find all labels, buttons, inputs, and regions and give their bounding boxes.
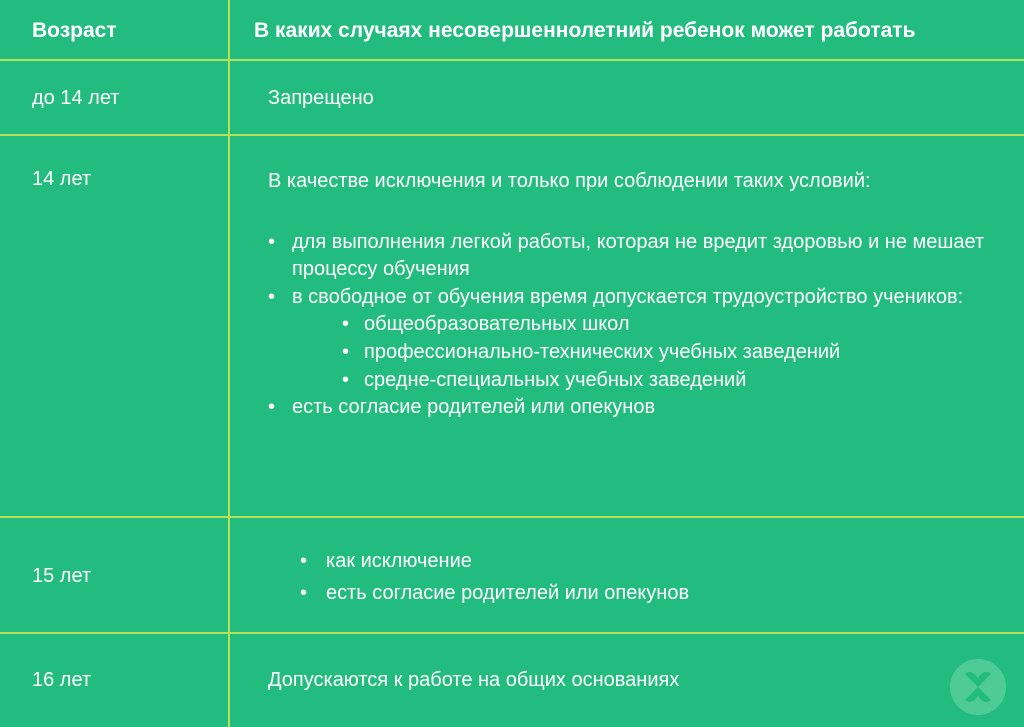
row-body-text: Запрещено — [268, 87, 374, 109]
header-cell-age: Возраст — [0, 0, 228, 61]
bullet-dot-icon: • — [268, 229, 275, 257]
list-item-text: профессионально-технических учебных заве… — [364, 341, 840, 363]
list-item: • в свободное от обучения время допускае… — [268, 284, 992, 394]
list-item: • для выполнения легкой работы, которая … — [268, 229, 992, 284]
list-item: • средне-специальных учебных заведений — [342, 367, 992, 395]
list-item-text: средне-специальных учебных заведений — [364, 369, 746, 391]
age-label: до 14 лет — [32, 87, 119, 109]
table-row: 14 лет В качестве исключения и только пр… — [0, 136, 1024, 518]
list-item: • профессионально-технических учебных за… — [342, 339, 992, 367]
age-work-rules-table: Возраст В каких случаях несовершеннолетн… — [0, 0, 1024, 727]
row-cell-age: 16 лет — [0, 634, 228, 727]
bullet-dot-icon: • — [300, 546, 307, 578]
row-cell-age: 14 лет — [0, 136, 228, 189]
conditions-bullet-list: • как исключение • есть согласие родител… — [300, 518, 1008, 609]
list-item: • как исключение — [300, 546, 1008, 578]
list-item: • есть согласие родителей или опекунов — [268, 394, 992, 422]
bullet-dot-icon: • — [268, 284, 275, 312]
age-label: 16 лет — [32, 669, 91, 691]
bullet-dot-icon: • — [342, 367, 349, 395]
conditions-bullet-list: • для выполнения легкой работы, которая … — [268, 229, 1008, 422]
header-cell-body: В каких случаях несовершеннолетний ребен… — [228, 0, 1024, 61]
row-cell-body: • как исключение • есть согласие родител… — [228, 518, 1024, 609]
row-body-text: Допускаются к работе на общих основаниях — [268, 669, 679, 691]
list-item-text: есть согласие родителей или опекунов — [292, 396, 655, 418]
list-item: • общеобразовательных школ — [342, 311, 992, 339]
list-item-text: в свободное от обучения время допускаетс… — [292, 286, 963, 308]
bullet-dot-icon: • — [342, 311, 349, 339]
table-row: до 14 лет Запрещено — [0, 61, 1024, 136]
row-cell-age: 15 лет — [0, 518, 228, 634]
row-cell-body: В качестве исключения и только при соблю… — [228, 136, 1024, 422]
row-cell-age: до 14 лет — [0, 61, 228, 136]
table-row: 15 лет • как исключение • есть согласие … — [0, 518, 1024, 634]
list-item-text: есть согласие родителей или опекунов — [326, 582, 689, 604]
row-cell-body: Допускаются к работе на общих основаниях — [228, 634, 1024, 727]
age-label: 14 лет — [32, 136, 228, 189]
schools-sub-bullet-list: • общеобразовательных школ • профессиона… — [342, 311, 992, 394]
list-item-text: как исключение — [326, 550, 472, 572]
conditions-intro-text: В качестве исключения и только при соблю… — [268, 136, 958, 196]
column-divider — [228, 0, 230, 727]
row-cell-body: Запрещено — [228, 61, 1024, 136]
bullet-dot-icon: • — [268, 394, 275, 422]
age-label: 15 лет — [32, 565, 91, 587]
bullet-dot-icon: • — [300, 578, 307, 610]
header-label-age: Возраст — [32, 19, 117, 42]
header-label-conditions: В каких случаях несовершеннолетний ребен… — [254, 19, 915, 42]
table-row: 16 лет Допускаются к работе на общих осн… — [0, 634, 1024, 727]
list-item-text: общеобразовательных школ — [364, 313, 630, 335]
list-item-text: для выполнения легкой работы, которая не… — [292, 231, 984, 281]
table-header-row: Возраст В каких случаях несовершеннолетн… — [0, 0, 1024, 61]
bullet-dot-icon: • — [342, 339, 349, 367]
list-item: • есть согласие родителей или опекунов — [300, 578, 1008, 610]
